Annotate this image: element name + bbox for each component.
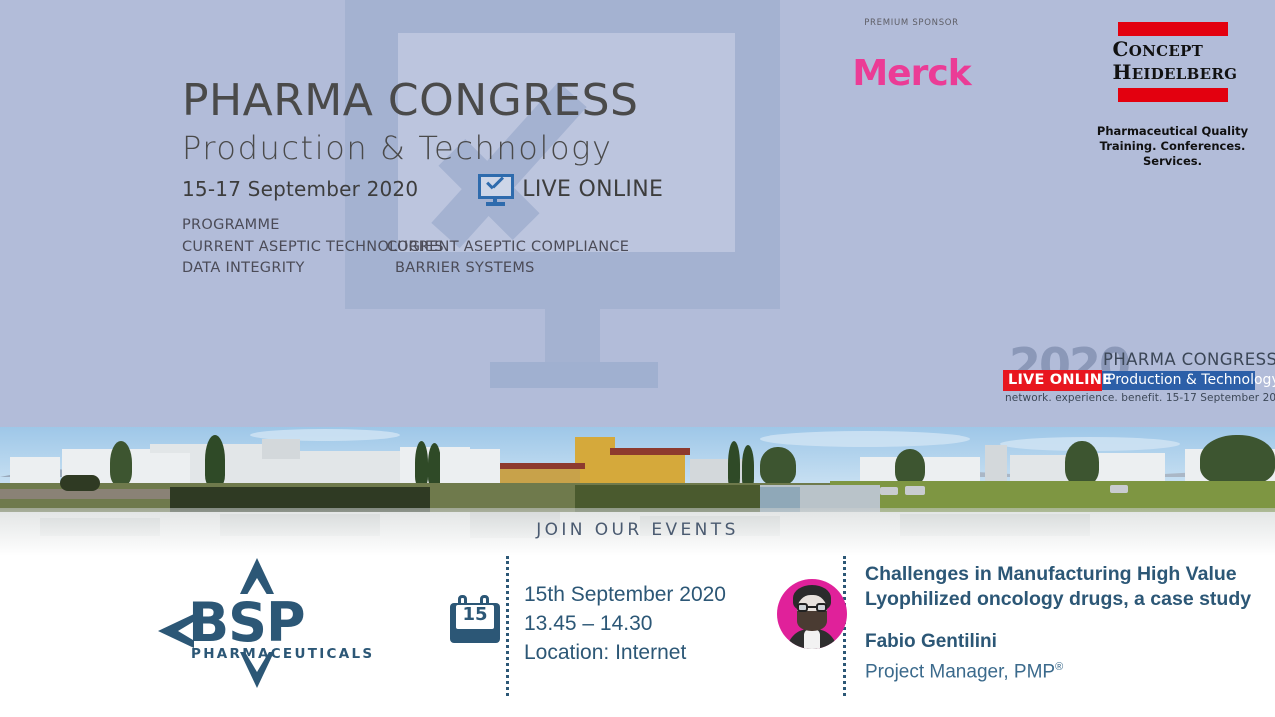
- talk-title: Challenges in Manufacturing High Value L…: [865, 562, 1265, 612]
- tree: [415, 441, 428, 485]
- programme-item-left: CURRENT ASEPTIC TECHNOLOGIES: [182, 237, 387, 259]
- avatar-shirt: [804, 629, 820, 649]
- organizer-name: CONCEPT HEIDELBERG: [1113, 39, 1233, 85]
- building: [262, 439, 300, 459]
- glasses-bridge: [808, 606, 816, 608]
- event-time: 13.45 – 14.30: [524, 609, 726, 638]
- header-banner: PHARMA CONGRESS Production & Technology …: [0, 0, 1275, 427]
- programme-row: DATA INTEGRITY BARRIER SYSTEMS: [182, 258, 629, 280]
- logo-bar-bottom: [1118, 88, 1228, 102]
- car: [1110, 485, 1128, 493]
- registered-mark: ®: [1055, 661, 1063, 673]
- hedge: [60, 475, 100, 491]
- event-date: 15th September 2020: [524, 580, 726, 609]
- building: [440, 449, 500, 485]
- bsp-logo-subtitle: PHARMACEUTICALS: [191, 646, 374, 662]
- roof: [610, 448, 690, 455]
- talk-block: Challenges in Manufacturing High Value L…: [865, 562, 1265, 685]
- talk-title-line-2: Lyophilized oncology drugs, a case study: [865, 587, 1265, 612]
- tree: [742, 445, 754, 487]
- badge-live-online: LIVE ONLINE: [1003, 370, 1102, 391]
- car: [905, 486, 925, 495]
- monitor-check-icon: [478, 174, 514, 204]
- tree: [728, 441, 740, 487]
- programme-item-right: BARRIER SYSTEMS: [387, 258, 535, 280]
- tree: [205, 435, 225, 485]
- badge-live-online-label: LIVE ONLINE: [1008, 372, 1112, 388]
- sponsor-label: PREMIUM SPONSOR: [824, 18, 999, 28]
- join-our-events-label: JOIN OUR EVENTS: [536, 520, 739, 540]
- organizer-line2-cap: H: [1113, 60, 1132, 84]
- car: [880, 487, 898, 495]
- tree: [110, 441, 132, 485]
- organizer-tagline: Pharmaceutical Quality Training. Confere…: [1090, 124, 1255, 169]
- congress-title-block: PHARMA CONGRESS Production & Technology …: [182, 76, 663, 204]
- cloud: [760, 431, 970, 447]
- bsp-pharmaceuticals-logo: BSP PHARMACEUTICALS: [152, 558, 352, 698]
- live-online-badge: LIVE ONLINE: [478, 174, 663, 204]
- calendar-icon: 15: [450, 595, 500, 643]
- programme-heading: PROGRAMME: [182, 215, 387, 237]
- logo-bar-top: [1118, 22, 1228, 36]
- badge-production-label: Production & Technology: [1107, 372, 1275, 388]
- page-subtitle: Production & Technology: [182, 128, 663, 168]
- badge-congress: PHARMA CONGRESS: [1103, 350, 1275, 369]
- join-our-events-heading: JOIN OUR EVENTS: [0, 520, 1275, 540]
- concept-heidelberg-logo: CONCEPT HEIDELBERG Pharmaceutical Qualit…: [1090, 22, 1255, 169]
- arrow-up-icon: [240, 558, 274, 594]
- talk-title-line-1: Challenges in Manufacturing High Value: [865, 562, 1265, 587]
- bsp-logo-word: BSP: [188, 596, 305, 650]
- monitor-graphic-neck: [545, 295, 600, 370]
- organizer-line1-cap: C: [1113, 37, 1129, 61]
- badge-production-bar: Production & Technology: [1101, 371, 1255, 390]
- building: [985, 445, 1007, 485]
- building: [10, 457, 60, 485]
- programme-list: PROGRAMME CURRENT ASEPTIC TECHNOLOGIES C…: [182, 215, 629, 280]
- organizer-line1-rest: ONCEPT: [1129, 42, 1203, 60]
- avatar: [777, 579, 847, 649]
- roof: [490, 463, 585, 469]
- glasses-icon: [816, 603, 827, 612]
- premium-sponsor-block: PREMIUM SPONSOR Merck: [824, 18, 999, 92]
- badge-strapline: network. experience. benefit. 15-17 Sept…: [1005, 392, 1275, 404]
- event-when-block: 15th September 2020 13.45 – 14.30 Locati…: [524, 580, 726, 667]
- programme-row: CURRENT ASEPTIC TECHNOLOGIES CURRENT ASE…: [182, 237, 629, 259]
- congress-dates: 15-17 September 2020: [182, 177, 418, 201]
- programme-item-left: DATA INTEGRITY: [182, 258, 387, 280]
- merck-logo: Merck: [824, 56, 999, 92]
- event-details-section: BSP PHARMACEUTICALS 15 15th September 20…: [0, 556, 1275, 717]
- speaker-role-text: Project Manager, PMP: [865, 661, 1055, 682]
- facility-panorama-image: [0, 427, 1275, 512]
- tree: [895, 449, 925, 485]
- live-online-label: LIVE ONLINE: [522, 177, 663, 202]
- speaker-name: Fabio Gentilini: [865, 629, 1265, 654]
- calendar-day-number: 15: [450, 604, 500, 625]
- monitor-graphic-foot: [490, 362, 658, 388]
- tree: [1200, 435, 1275, 485]
- poster-canvas: PHARMA CONGRESS Production & Technology …: [0, 0, 1275, 717]
- congress-2020-badge: 2020 PHARMA CONGRESS Production & Techno…: [1003, 344, 1255, 410]
- programme-item-right: CURRENT ASEPTIC COMPLIANCE: [387, 237, 629, 259]
- page-title: PHARMA CONGRESS: [182, 76, 663, 126]
- divider-left: [506, 556, 509, 696]
- tagline-line-1: Pharmaceutical Quality: [1090, 124, 1255, 139]
- event-location: Location: Internet: [524, 638, 726, 667]
- tree: [760, 447, 796, 485]
- tree: [1065, 441, 1099, 485]
- tagline-line-2: Training. Conferences. Services.: [1090, 139, 1255, 169]
- glasses-icon: [797, 603, 808, 612]
- avatar-beard: [797, 611, 827, 631]
- speaker-role: Project Manager, PMP®: [865, 654, 1265, 685]
- organizer-line2-rest: EIDELBERG: [1132, 65, 1238, 83]
